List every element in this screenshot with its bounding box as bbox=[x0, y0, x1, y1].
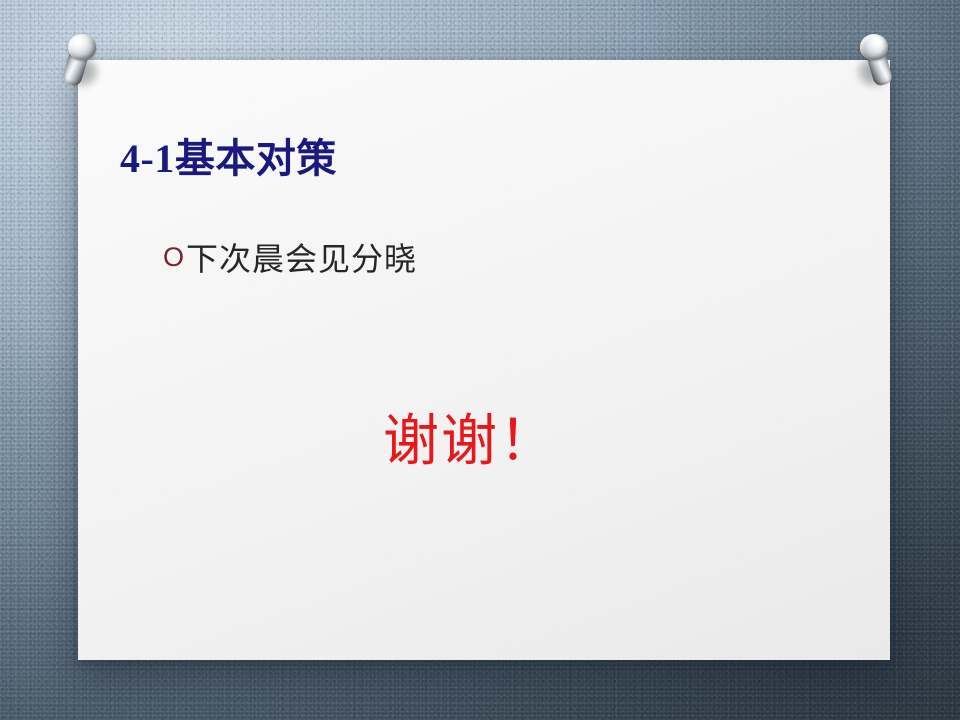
circle-outline-bullet-icon: O bbox=[163, 244, 184, 271]
presentation-slide: 4-1基本对策 O 下次晨会见分晓 谢谢！ bbox=[0, 0, 960, 720]
pushpin-icon-left bbox=[60, 32, 104, 96]
closing-thanks-text: 谢谢！ bbox=[383, 396, 557, 477]
slide-title: 4-1基本对策 bbox=[120, 126, 337, 184]
pushpin-icon-right bbox=[852, 32, 896, 96]
pushpin-highlight bbox=[74, 38, 83, 45]
bullet-item-label: 下次晨会见分晓 bbox=[186, 234, 417, 280]
pushpin-highlight bbox=[873, 38, 882, 45]
pushpin-head bbox=[68, 34, 96, 60]
bullet-list-item: O 下次晨会见分晓 bbox=[163, 234, 417, 280]
